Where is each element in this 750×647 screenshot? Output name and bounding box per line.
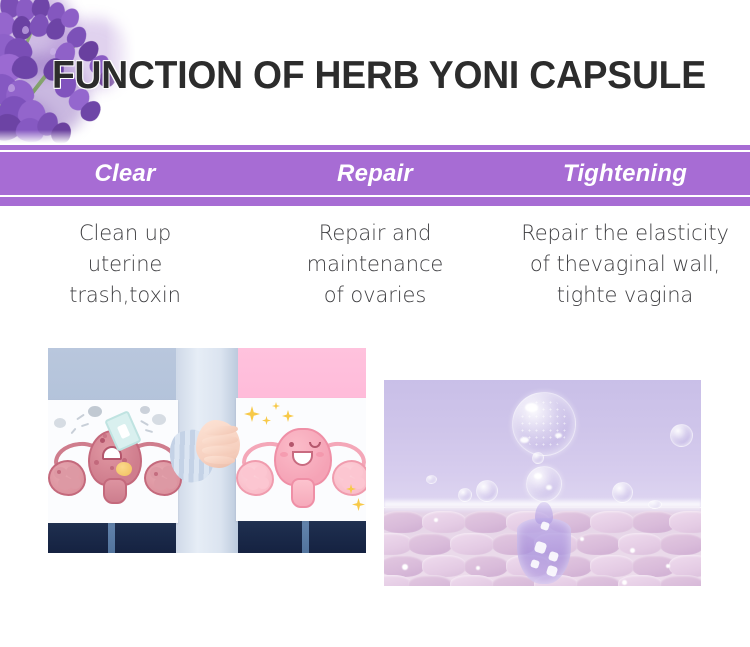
header: FUNCTION OF HERB YONI CAPSULE: [0, 0, 750, 145]
page-title: FUNCTION OF HERB YONI CAPSULE: [52, 53, 701, 98]
description-line: Clean up: [0, 218, 250, 249]
card-unhealthy-uterus: [48, 400, 178, 523]
large-bubble: [512, 392, 576, 456]
band-label: Clear: [94, 162, 155, 186]
description-clear: Clean up uterine trash,toxin: [0, 218, 250, 326]
description-line: tighte vagina: [500, 280, 750, 311]
description-line: Repair the elasticity: [500, 218, 750, 249]
skin-absorption-photo: [384, 380, 701, 586]
description-line: maintenance: [250, 249, 500, 280]
category-band: Clear Repair Tightening: [0, 145, 750, 206]
band-rule-bottom: [0, 195, 750, 197]
band-label: Repair: [337, 162, 413, 186]
band-column-clear: Clear: [0, 152, 250, 195]
description-repair: Repair and maintenance of ovaries: [250, 218, 500, 326]
description-line: Repair and: [250, 218, 500, 249]
description-line: trash,toxin: [0, 280, 250, 311]
description-line: of ovaries: [250, 280, 500, 311]
uterus-before-after-photo: [48, 348, 366, 553]
band-label: Tightening: [563, 162, 687, 186]
card-healthy-uterus: [236, 398, 366, 521]
description-tightening: Repair the elasticity of thevaginal wall…: [500, 218, 750, 326]
description-line: of thevaginal wall,: [500, 249, 750, 280]
band-column-repair: Repair: [250, 152, 500, 195]
description-columns: Clean up uterine trash,toxin Repair and …: [0, 218, 750, 326]
medium-bubble: [526, 466, 562, 502]
description-line: uterine: [0, 249, 250, 280]
band-column-tightening: Tightening: [500, 152, 750, 195]
